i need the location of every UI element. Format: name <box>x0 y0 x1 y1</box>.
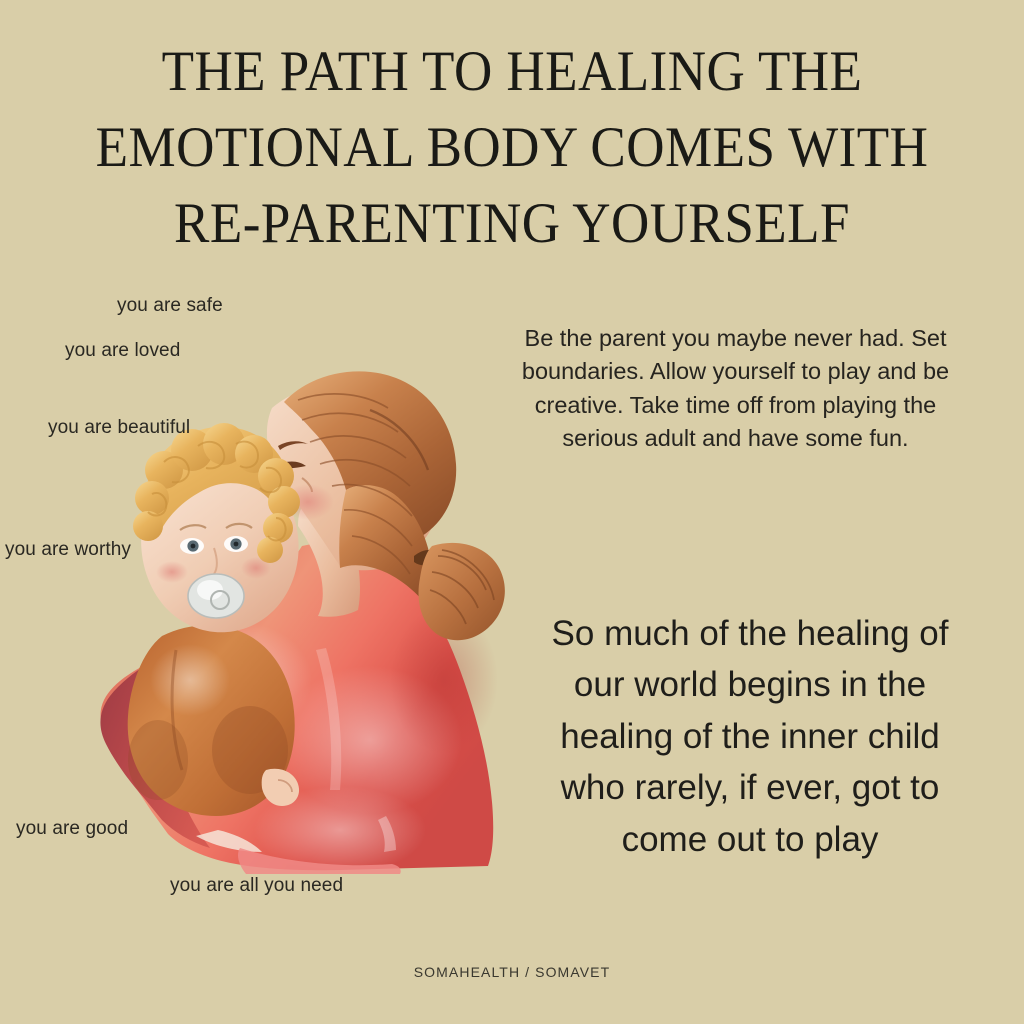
affirmation-you-are-good: you are good <box>16 818 128 840</box>
pull-quote: So much of the healing of our world begi… <box>524 608 976 865</box>
page-title: THE PATH TO HEALING THE EMOTIONAL BODY C… <box>84 34 940 261</box>
affirmation-you-are-all-you-need: you are all you need <box>170 875 343 897</box>
affirmation-you-are-loved: you are loved <box>65 340 180 362</box>
body-paragraph: Be the parent you maybe never had. Set b… <box>497 322 974 455</box>
baby-cheek-blush-right <box>241 557 271 579</box>
baby-pacifier <box>188 574 244 618</box>
affirmation-you-are-beautiful: you are beautiful <box>48 417 190 439</box>
baby-cheek-blush-left <box>156 561 188 583</box>
poster-canvas: THE PATH TO HEALING THE EMOTIONAL BODY C… <box>0 0 1024 1024</box>
affirmation-you-are-safe: you are safe <box>117 295 223 317</box>
footer-attribution: SOMAHEALTH / SOMAVET <box>0 964 1024 980</box>
affirmation-you-are-worthy: you are worthy <box>5 539 131 561</box>
